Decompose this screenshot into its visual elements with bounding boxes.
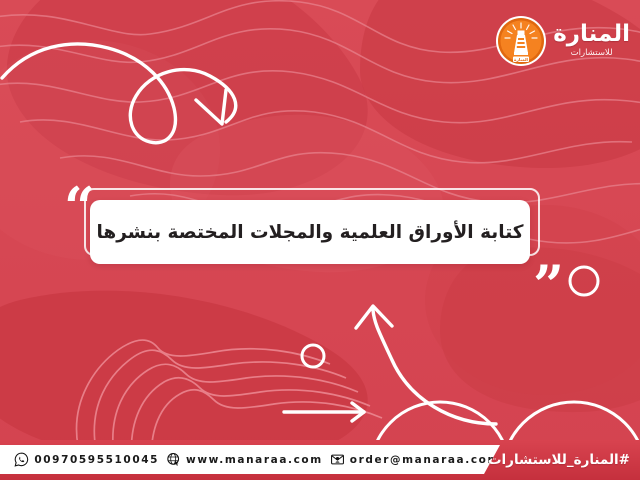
social-media-banner: المنارة المنارة للاستشارات “ كتابة الأور… xyxy=(0,0,640,480)
headline-text: كتابة الأوراق العلمية والمجلات المختصة ب… xyxy=(96,222,523,243)
website-url: www.manaraa.com xyxy=(186,454,323,466)
lighthouse-badge-icon: المنارة xyxy=(495,15,547,67)
brand-logo: المنارة المنارة للاستشارات xyxy=(495,12,630,70)
globe-icon xyxy=(166,452,181,467)
quote-close-mark: ” xyxy=(533,258,564,312)
whatsapp-icon xyxy=(14,452,29,467)
contact-whatsapp[interactable]: 00970595510045 xyxy=(14,452,159,467)
logo-mark-inner-label: المنارة xyxy=(514,57,529,62)
logo-wordmark: المنارة للاستشارات xyxy=(553,23,630,60)
whatsapp-number: 00970595510045 xyxy=(34,454,159,466)
contact-website[interactable]: www.manaraa.com xyxy=(166,452,323,467)
headline-banner: “ كتابة الأوراق العلمية والمجلات المختصة… xyxy=(64,186,544,264)
contact-email[interactable]: order@manaraa.com xyxy=(330,452,500,467)
email-address: order@manaraa.com xyxy=(350,454,500,466)
logo-name: المنارة xyxy=(553,23,630,46)
footer-bar: 00970595510045 www.manaraa.com xyxy=(0,440,640,480)
footer-contact-strip: 00970595510045 www.manaraa.com xyxy=(0,445,500,474)
email-icon xyxy=(330,452,345,467)
logo-subtitle: للاستشارات xyxy=(571,49,613,58)
brand-hashtag[interactable]: #المنارة_للاستشارات xyxy=(488,440,630,480)
headline-card: كتابة الأوراق العلمية والمجلات المختصة ب… xyxy=(90,200,530,264)
